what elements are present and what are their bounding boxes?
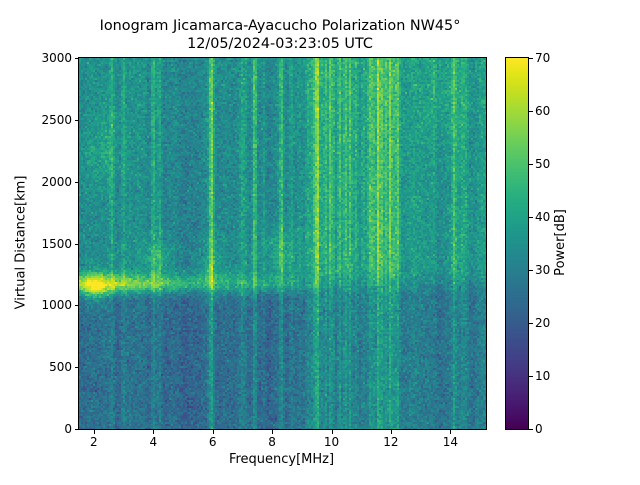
colorbar-tick-label: 40	[535, 211, 550, 223]
title-line-1: Ionogram Jicamarca-Ayacucho Polarization…	[0, 17, 560, 35]
x-tick-mark	[213, 430, 214, 434]
x-tick-label: 10	[324, 436, 339, 448]
x-tick-mark	[94, 430, 95, 434]
plot-area: 050010001500200025003000 2468101214	[78, 57, 487, 430]
colorbar-tick-mark	[529, 270, 533, 271]
x-tick-label: 12	[383, 436, 398, 448]
figure-canvas: Ionogram Jicamarca-Ayacucho Polarization…	[0, 0, 640, 480]
y-tick-mark	[75, 305, 79, 306]
x-tick-label: 2	[90, 436, 98, 448]
x-tick-mark	[272, 430, 273, 434]
colorbar-tick-mark	[529, 429, 533, 430]
y-tick-label: 500	[49, 361, 72, 373]
x-tick-label: 6	[209, 436, 217, 448]
colorbar-tick-label: 30	[535, 264, 550, 276]
x-axis-label-text: Frequency[MHz]	[229, 452, 334, 467]
colorbar-tick-mark	[529, 376, 533, 377]
y-tick-label: 2500	[41, 114, 72, 126]
y-tick-mark	[75, 182, 79, 183]
colorbar-tick-mark	[529, 58, 533, 59]
x-tick-mark	[391, 430, 392, 434]
colorbar-label: Power[dB]	[552, 57, 568, 428]
x-tick-label: 8	[268, 436, 276, 448]
y-tick-mark	[75, 367, 79, 368]
colorbar-tick-label: 50	[535, 158, 550, 170]
colorbar-tick-mark	[529, 164, 533, 165]
y-tick-mark	[75, 429, 79, 430]
x-tick-mark	[153, 430, 154, 434]
colorbar-tick-mark	[529, 111, 533, 112]
colorbar-tick-mark	[529, 323, 533, 324]
y-tick-mark	[75, 58, 79, 59]
colorbar-tick-label: 70	[535, 52, 550, 64]
y-tick-label: 1500	[41, 238, 72, 250]
colorbar-label-text: Power[dB]	[553, 209, 568, 276]
title-line-2: 12/05/2024-03:23:05 UTC	[0, 35, 560, 53]
y-tick-mark	[75, 244, 79, 245]
y-axis-label-text: Virtual Distance[km]	[14, 176, 29, 310]
colorbar-tick-mark	[529, 217, 533, 218]
x-tick-label: 4	[149, 436, 157, 448]
colorbar-tick-label: 20	[535, 317, 550, 329]
colorbar-tick-label: 0	[535, 423, 543, 435]
y-tick-label: 3000	[41, 52, 72, 64]
x-tick-label: 14	[443, 436, 458, 448]
chart-title: Ionogram Jicamarca-Ayacucho Polarization…	[0, 17, 560, 53]
y-tick-label: 2000	[41, 176, 72, 188]
y-axis-label: Virtual Distance[km]	[13, 0, 29, 485]
ionogram-heatmap	[79, 58, 486, 429]
y-tick-label: 1000	[41, 299, 72, 311]
colorbar-tick-label: 60	[535, 105, 550, 117]
y-tick-label: 0	[64, 423, 72, 435]
x-tick-mark	[450, 430, 451, 434]
colorbar-tick-label: 10	[535, 370, 550, 382]
colorbar: 010203040506070	[505, 57, 529, 430]
x-tick-mark	[332, 430, 333, 434]
y-tick-mark	[75, 120, 79, 121]
x-axis-label: Frequency[MHz]	[78, 452, 485, 467]
colorbar-gradient	[506, 58, 528, 429]
